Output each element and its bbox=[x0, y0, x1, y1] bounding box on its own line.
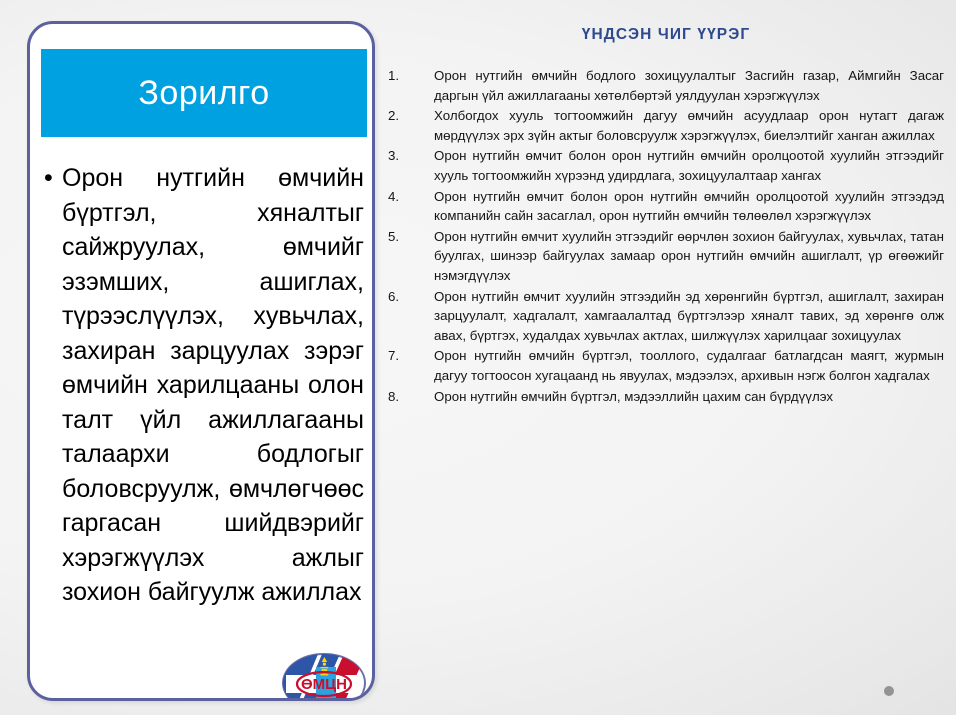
list-item-text: Орон нутгийн өмчийн бүртгэл, мэдээллийн … bbox=[434, 387, 944, 407]
decor-dot bbox=[884, 686, 894, 696]
list-item-text: Орон нутгийн өмчит хуулийн этгээдийн эд … bbox=[434, 287, 944, 346]
duties-panel: ҮНДСЭН ЧИГ ҮҮРЭГ 1. Орон нутгийн өмчийн … bbox=[388, 26, 944, 711]
goal-bullet-text: Орон нутгийн өмчийн бүртгэл, хяналтыг са… bbox=[62, 161, 364, 610]
list-item: 4. Орон нутгийн өмчит болон орон нутгийн… bbox=[388, 187, 944, 226]
list-item-number: 6. bbox=[388, 287, 434, 307]
bullet-dot-icon: • bbox=[44, 161, 62, 196]
list-item-number: 8. bbox=[388, 387, 434, 407]
list-item-number: 1. bbox=[388, 66, 434, 86]
omtsn-logo: ӨМЦН bbox=[278, 651, 370, 701]
list-item-text: Холбогдох хууль тогтоомжийн дагуу өмчийн… bbox=[434, 106, 944, 145]
list-item: 5. Орон нутгийн өмчит хуулийн этгээдийг … bbox=[388, 227, 944, 286]
duties-title: ҮНДСЭН ЧИГ ҮҮРЭГ bbox=[388, 26, 944, 44]
list-item-number: 3. bbox=[388, 146, 434, 166]
goal-panel: Зорилго • Орон нутгийн өмчийн бүртгэл, х… bbox=[27, 21, 375, 701]
list-item: 8. Орон нутгийн өмчийн бүртгэл, мэдээлли… bbox=[388, 387, 944, 407]
omtsn-logo-text: ӨМЦН bbox=[301, 676, 347, 693]
list-item-text: Орон нутгийн өмчит хуулийн этгээдийг өөр… bbox=[434, 227, 944, 286]
list-item-number: 4. bbox=[388, 187, 434, 207]
list-item-number: 5. bbox=[388, 227, 434, 247]
list-item-number: 7. bbox=[388, 346, 434, 366]
list-item: 7. Орон нутгийн өмчийн бүртгэл, тооллого… bbox=[388, 346, 944, 385]
list-item-text: Орон нутгийн өмчийн бүртгэл, тооллого, с… bbox=[434, 346, 944, 385]
goal-bullet-item: • Орон нутгийн өмчийн бүртгэл, хяналтыг … bbox=[44, 161, 364, 610]
list-item-number: 2. bbox=[388, 106, 434, 126]
list-item-text: Орон нутгийн өмчит болон орон нутгийн өм… bbox=[434, 146, 944, 185]
list-item-text: Орон нутгийн өмчит болон орон нутгийн өм… bbox=[434, 187, 944, 226]
list-item: 3. Орон нутгийн өмчит болон орон нутгийн… bbox=[388, 146, 944, 185]
list-item: 2. Холбогдох хууль тогтоомжийн дагуу өмч… bbox=[388, 106, 944, 145]
list-item-text: Орон нутгийн өмчийн бодлого зохицуулалты… bbox=[434, 66, 944, 105]
list-item: 1. Орон нутгийн өмчийн бодлого зохицуула… bbox=[388, 66, 944, 105]
list-item: 6. Орон нутгийн өмчит хуулийн этгээдийн … bbox=[388, 287, 944, 346]
goal-title: Зорилго bbox=[138, 76, 269, 110]
goal-body: • Орон нутгийн өмчийн бүртгэл, хяналтыг … bbox=[44, 161, 364, 610]
goal-title-bar: Зорилго bbox=[41, 49, 367, 137]
duties-list: 1. Орон нутгийн өмчийн бодлого зохицуула… bbox=[388, 66, 944, 406]
